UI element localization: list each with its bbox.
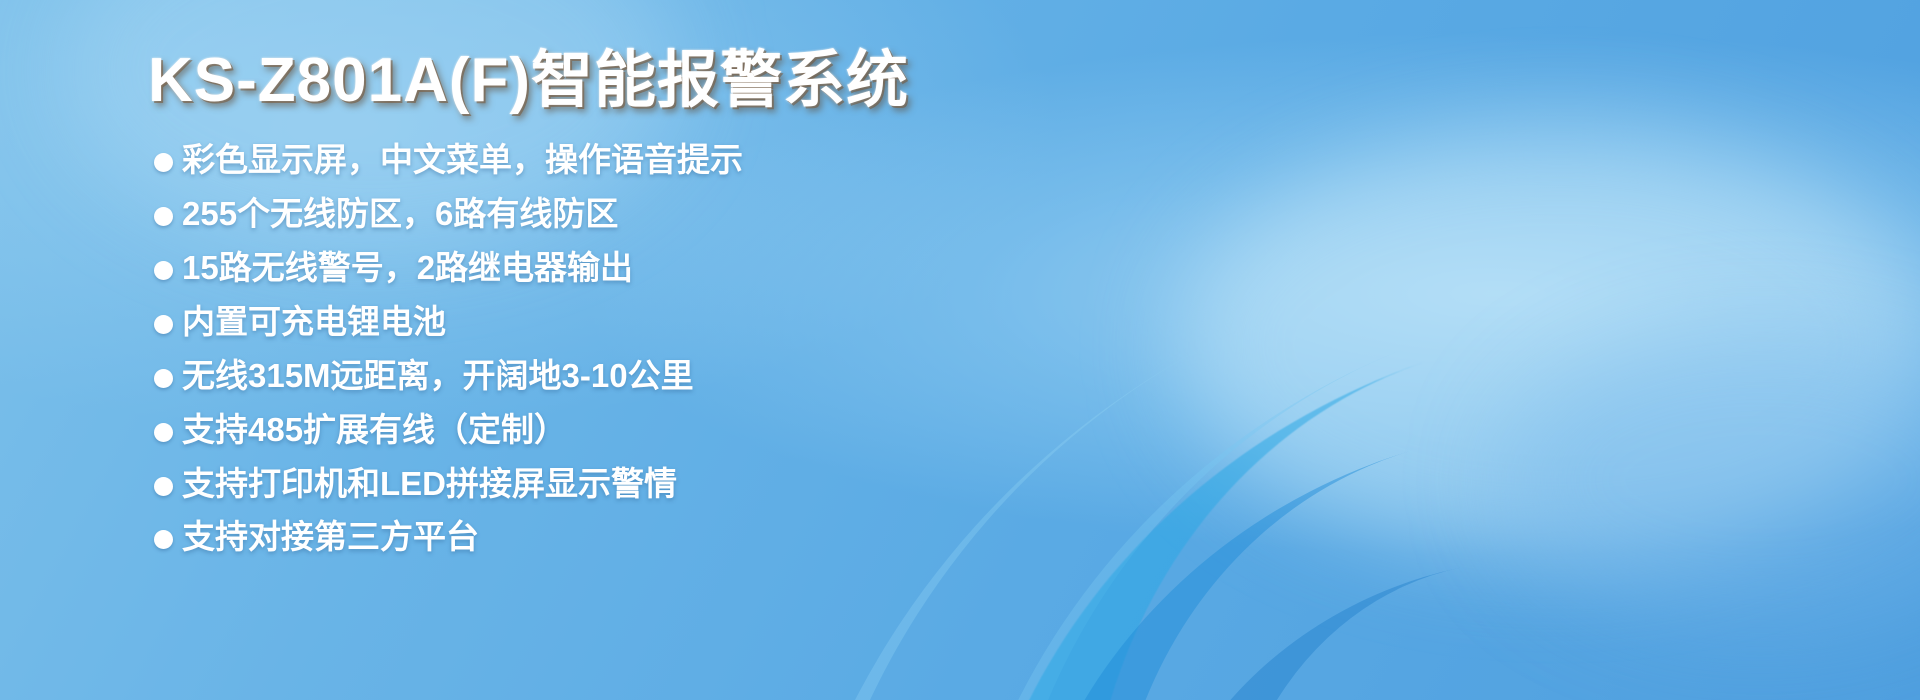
list-item: 彩色显示屏，中文菜单，操作语音提示	[154, 139, 948, 181]
bullet-icon	[154, 423, 173, 442]
feature-list: 彩色显示屏，中文菜单，操作语音提示 255个无线防区，6路有线防区 15路无线警…	[154, 139, 948, 558]
feature-text: 255个无线防区，6路有线防区	[182, 193, 618, 235]
list-item: 15路无线警号，2路继电器输出	[154, 247, 948, 289]
page-title: KS-Z801A(F)智能报警系统	[148, 48, 948, 113]
feature-text: 支持485扩展有线（定制）	[182, 409, 567, 451]
list-item: 内置可充电锂电池	[154, 301, 948, 343]
bullet-icon	[154, 477, 173, 496]
bullet-icon	[154, 153, 173, 172]
list-item: 无线315M远距离，开阔地3-10公里	[154, 355, 948, 397]
list-item: 支持打印机和LED拼接屏显示警情	[154, 463, 948, 505]
bullet-icon	[154, 530, 173, 549]
feature-text: 支持打印机和LED拼接屏显示警情	[182, 463, 677, 505]
bullet-icon	[154, 207, 173, 226]
product-banner: KS-Z801A(F)智能报警系统 彩色显示屏，中文菜单，操作语音提示 255个…	[0, 0, 1920, 700]
feature-text: 彩色显示屏，中文菜单，操作语音提示	[182, 139, 743, 181]
alarm-control-panel: 22 27 04-01-01 系统撤防 主电 备电 故障	[960, 0, 1920, 700]
bullet-icon	[154, 315, 173, 334]
feature-text: 无线315M远距离，开阔地3-10公里	[182, 355, 694, 397]
list-item: 255个无线防区，6路有线防区	[154, 193, 948, 235]
feature-text: 内置可充电锂电池	[182, 301, 446, 343]
list-item: 支持485扩展有线（定制）	[154, 409, 948, 451]
marketing-copy: KS-Z801A(F)智能报警系统 彩色显示屏，中文菜单，操作语音提示 255个…	[148, 48, 948, 570]
feature-text: 15路无线警号，2路继电器输出	[182, 247, 633, 289]
list-item: 支持对接第三方平台	[154, 516, 948, 558]
feature-text: 支持对接第三方平台	[182, 516, 479, 558]
bullet-icon	[154, 261, 173, 280]
bullet-icon	[154, 369, 173, 388]
